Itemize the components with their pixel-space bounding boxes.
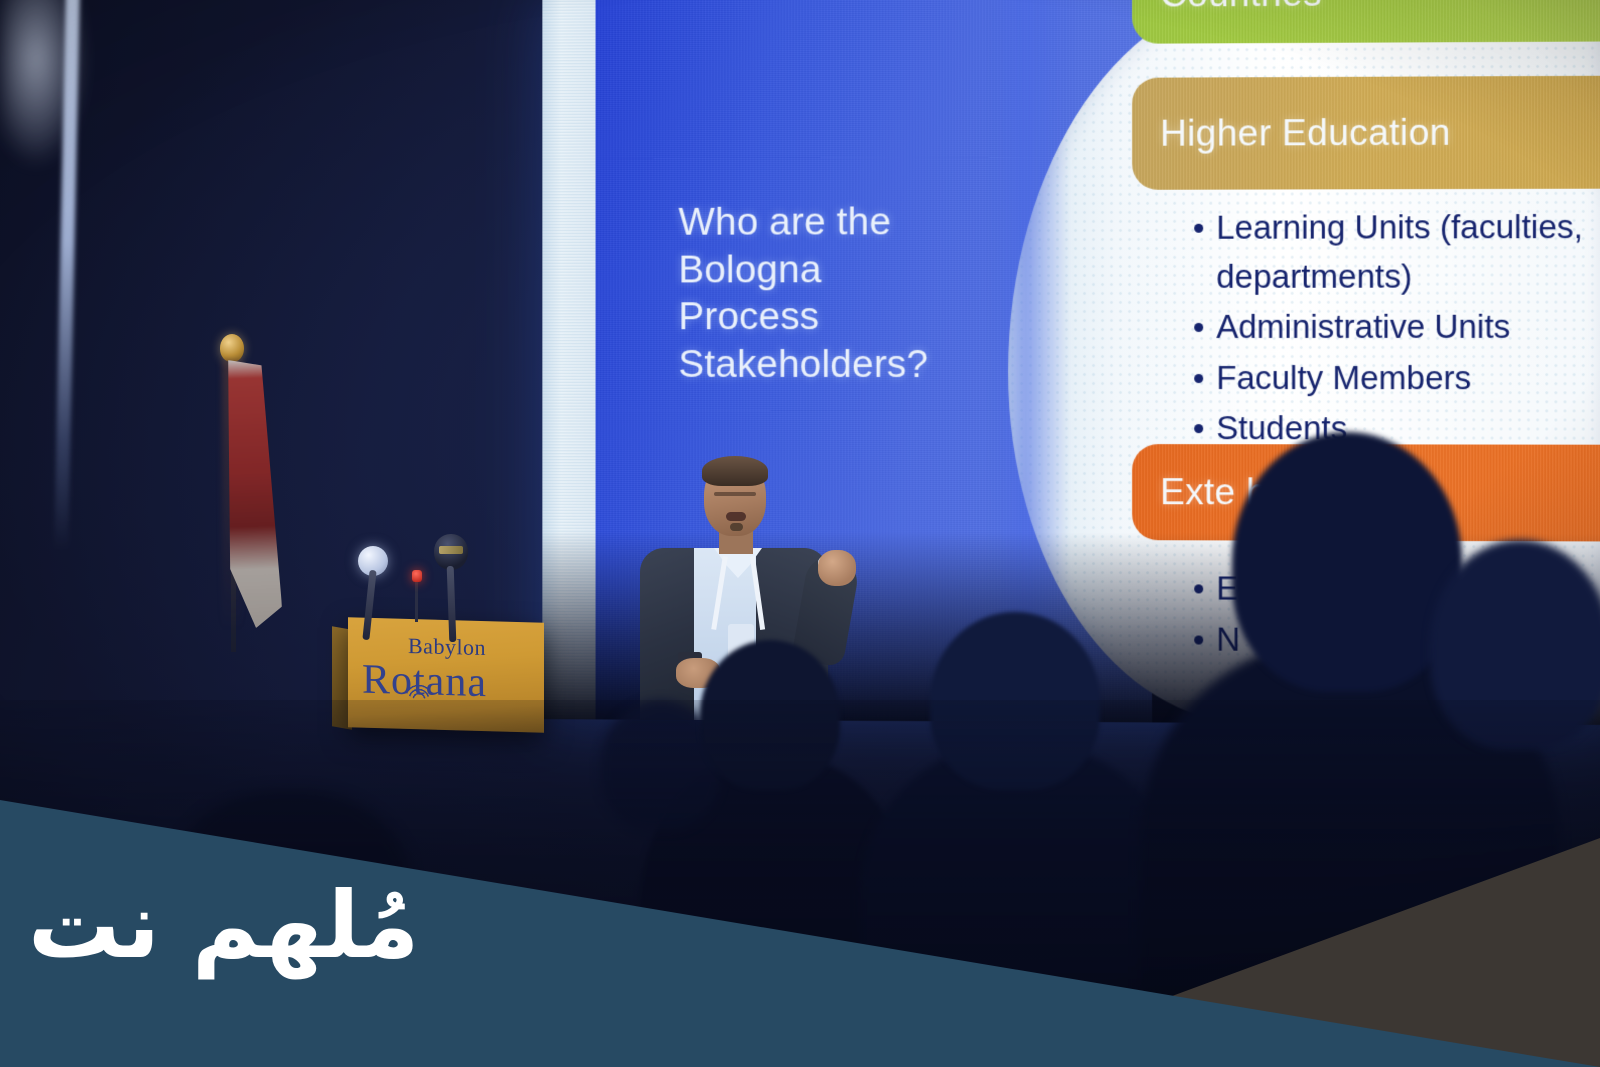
ambient-glow (0, 0, 120, 240)
slide-left-bezel (542, 0, 595, 719)
slide-title: Who are the Bologna Process Stakeholders… (678, 198, 1006, 388)
section-heading-countries-label: Countries (1160, 0, 1322, 16)
audience-silhouette (1430, 540, 1600, 750)
speaker-raised-hand (818, 550, 856, 586)
slide-title-line-1: Who are the (678, 198, 1006, 246)
conference-photo: Who are the Bologna Process Stakeholders… (0, 0, 1600, 1067)
slide-title-line-4: Stakeholders? (678, 341, 1006, 389)
recording-indicator (412, 570, 422, 582)
speaker-brow (714, 492, 756, 496)
audience-silhouette (930, 612, 1100, 790)
slide-title-line-3: Process (678, 293, 1006, 341)
section-heading-countries: Countries (1132, 0, 1600, 44)
slide-title-line-2: Bologna (678, 246, 1006, 294)
bullet-list-higher-education: Learning Units (faculties, departments) … (1190, 203, 1600, 456)
watermark-text: مُلهم نت (28, 880, 419, 972)
list-item: Faculty Members (1216, 353, 1600, 402)
podium: Babylon Rotana (348, 617, 544, 732)
indicator-stem (415, 582, 418, 622)
speaker-mouth (726, 512, 746, 521)
audience-silhouette (1232, 432, 1462, 692)
audience-silhouette (860, 744, 1180, 1067)
speaker-goatee (730, 523, 743, 531)
section-heading-higher-education-label: Higher Education (1160, 112, 1451, 155)
speaker-hair (702, 456, 768, 486)
rotana-fan-icon (404, 673, 434, 700)
list-item: Learning Units (faculties, departments) (1216, 203, 1600, 301)
section-heading-higher-education: Higher Education (1132, 76, 1600, 190)
flag-finial-icon (220, 334, 244, 362)
audience-silhouette (700, 640, 840, 790)
list-item: Administrative Units (1216, 303, 1600, 352)
microphone-brand-plate (439, 546, 463, 554)
